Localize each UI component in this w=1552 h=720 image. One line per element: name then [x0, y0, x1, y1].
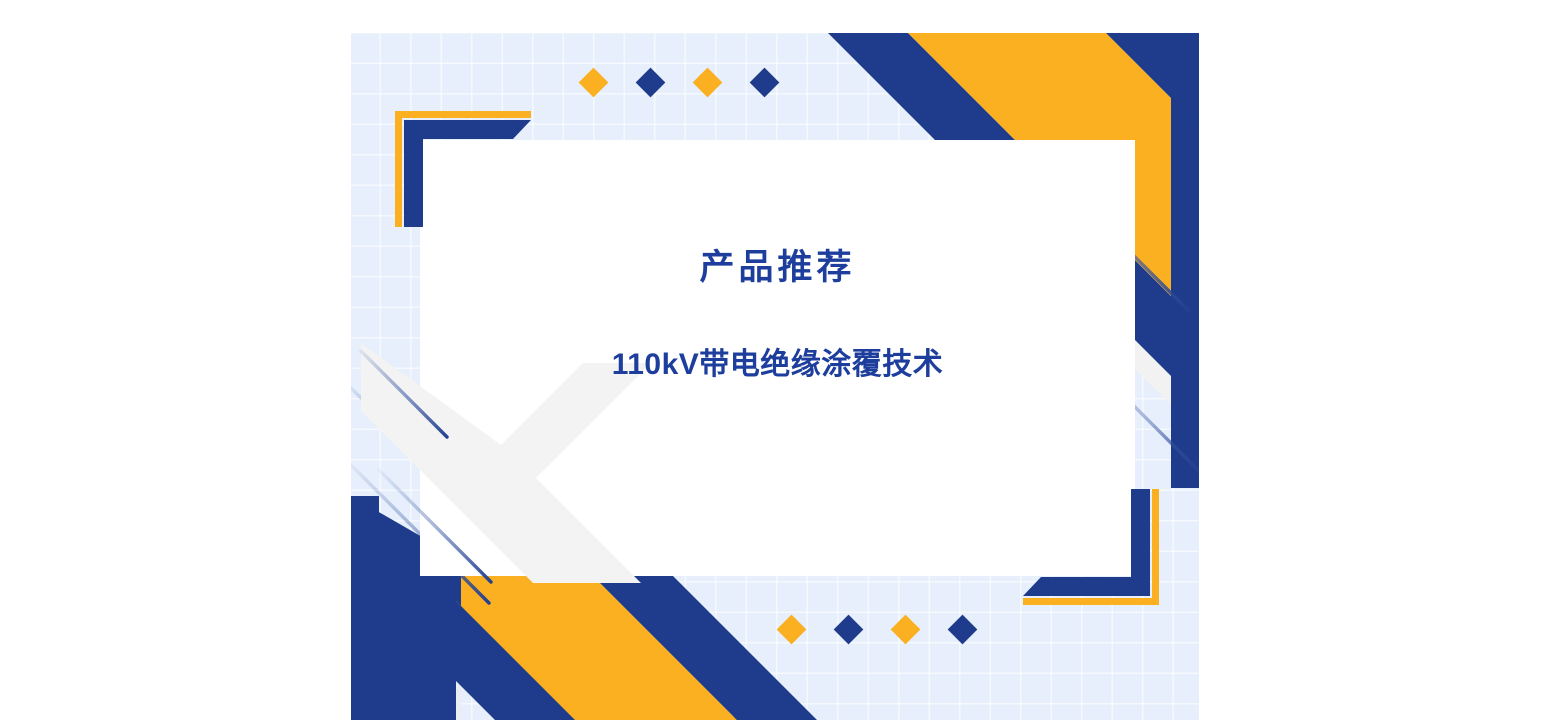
bottom-left-yellow-wedge	[461, 554, 738, 720]
bottom-diamond-row	[781, 619, 973, 640]
diamond-marker	[891, 615, 921, 645]
top-diamond-row	[583, 72, 775, 93]
top-right-navy-elbow	[1171, 324, 1199, 488]
diamond-marker	[834, 615, 864, 645]
diamond-marker	[693, 68, 723, 98]
diamond-marker	[777, 615, 807, 645]
bottom-left-navy-column	[351, 496, 379, 720]
diamond-marker	[948, 615, 978, 645]
diamond-marker	[636, 68, 666, 98]
right-edge-navy-strip	[1171, 33, 1199, 488]
slide-title: 产品推荐	[699, 247, 855, 289]
diamond-marker	[579, 68, 609, 98]
slide-text-block: 产品推荐 110kV带电绝缘涂覆技术	[420, 140, 1135, 576]
slide-subtitle: 110kV带电绝缘涂覆技术	[612, 347, 944, 383]
top-right-navy-band-3	[1106, 33, 1199, 126]
slide-canvas: 产品推荐 110kV带电绝缘涂覆技术	[351, 33, 1199, 720]
diamond-marker	[750, 68, 780, 98]
page-root: 产品推荐 110kV带电绝缘涂覆技术	[0, 0, 1552, 720]
